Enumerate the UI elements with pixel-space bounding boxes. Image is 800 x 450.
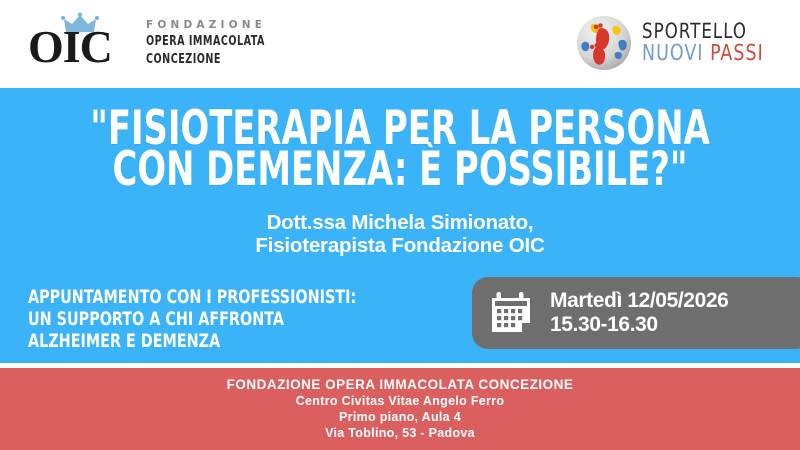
- event-speaker-role: Fisioterapista Fondazione OIC: [0, 234, 800, 257]
- poster-header: OIC FONDAZIONE OPERA IMMACOLATA CONCEZIO…: [0, 0, 800, 88]
- sportello-word-nuovi: NUOVI: [641, 41, 703, 66]
- sportello-word-sportello: SPORTELLO: [641, 20, 763, 42]
- oic-letters: OIC: [28, 24, 132, 70]
- caption-line-3: ALZHEIMER E DEMENZA: [28, 330, 356, 352]
- sportello-wordmark: SPORTELLO NUOVI PASSI: [642, 20, 780, 66]
- caption-line-2: UN SUPPORTO A CHI AFFRONTA: [28, 308, 356, 330]
- venue-center: Centro Civitas Vitae Angelo Ferro: [0, 393, 800, 409]
- calendar-icon: [488, 290, 534, 336]
- oic-wordmark: FONDAZIONE OPERA IMMACOLATA CONCEZIONE: [146, 15, 291, 67]
- event-series-caption: APPUNTAMENTO CON I PROFESSIONISTI: UN SU…: [28, 286, 419, 352]
- oic-logomark: OIC: [28, 10, 132, 72]
- event-title: "FISIOTERAPIA PER LA PERSONA CON DEMENZA…: [0, 108, 800, 190]
- venue-organization: FONDAZIONE OPERA IMMACOLATA CONCEZIONE: [0, 376, 800, 393]
- event-title-line-2: CON DEMENZA: È POSSIBILE?": [80, 149, 720, 190]
- event-date: Martedì 12/05/2026: [550, 289, 728, 313]
- oic-word-concezione: CONCEZIONE: [146, 52, 265, 67]
- event-speaker-name: Dott.ssa Michela Simionato,: [0, 211, 800, 234]
- venue-footer: FONDAZIONE OPERA IMMACOLATA CONCEZIONE C…: [0, 368, 800, 450]
- venue-address: Via Toblino, 53 - Padova: [0, 425, 800, 441]
- sportello-word-passi: PASSI: [709, 41, 763, 66]
- date-badge: Martedì 12/05/2026 15.30-16.30: [472, 277, 800, 349]
- sportello-logo[interactable]: SPORTELLO NUOVI PASSI: [575, 14, 780, 72]
- event-poster: OIC FONDAZIONE OPERA IMMACOLATA CONCEZIO…: [0, 0, 800, 450]
- sportello-word-nuovi-passi: NUOVI PASSI: [641, 42, 763, 66]
- main-blue-panel: "FISIOTERAPIA PER LA PERSONA CON DEMENZA…: [0, 88, 800, 363]
- event-time: 15.30-16.30: [550, 313, 728, 337]
- caption-line-1: APPUNTAMENTO CON I PROFESSIONISTI:: [28, 286, 356, 308]
- venue-room: Primo piano, Aula 4: [0, 409, 800, 425]
- event-speaker: Dott.ssa Michela Simionato, Fisioterapis…: [0, 211, 800, 257]
- oic-word-fondazione: FONDAZIONE: [146, 19, 291, 31]
- oic-logo[interactable]: OIC FONDAZIONE OPERA IMMACOLATA CONCEZIO…: [28, 10, 291, 72]
- date-badge-text: Martedì 12/05/2026 15.30-16.30: [550, 289, 728, 337]
- footprints-sphere-icon: [575, 14, 633, 72]
- oic-word-opera-immacolata: OPERA IMMACOLATA: [146, 34, 265, 49]
